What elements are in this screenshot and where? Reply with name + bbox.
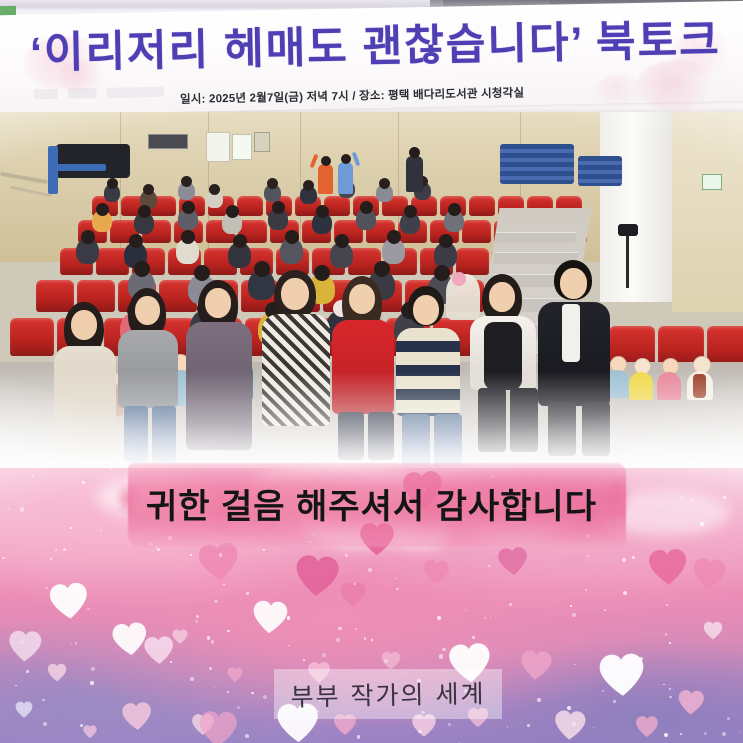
audience-member <box>96 203 109 216</box>
audience-member <box>181 176 192 187</box>
audience-member <box>360 201 373 214</box>
standing-attendee <box>338 162 353 194</box>
audience-member <box>285 230 299 244</box>
audience-member <box>233 234 247 248</box>
audience-member <box>181 230 195 244</box>
aisle-step <box>495 232 577 243</box>
audience-member <box>434 265 450 281</box>
tripod-leg <box>626 236 629 288</box>
wall-notice-green <box>232 134 252 160</box>
wall-notice-dark <box>148 134 188 149</box>
audience-member <box>335 234 349 248</box>
exit-sign-icon <box>702 174 722 190</box>
audience-member <box>316 205 329 218</box>
audience-member <box>387 230 401 244</box>
cart-frame <box>48 164 106 171</box>
wall-notice-white <box>206 132 230 162</box>
audience-member <box>303 180 314 191</box>
audience-member <box>374 261 390 277</box>
banner-title: ‘이리저리 헤매도 괜찮습니다’ 북토크 <box>29 9 720 84</box>
audience-member <box>81 230 95 244</box>
audience-member <box>314 265 330 281</box>
standing-attendee <box>321 156 331 166</box>
audience-member <box>448 203 461 216</box>
equipment-cart <box>56 144 130 178</box>
speaker-box-icon <box>254 132 270 152</box>
cartoon-cutout <box>686 356 714 400</box>
audience-member <box>226 205 239 218</box>
audience-member <box>379 178 390 189</box>
stacked-chairs <box>500 144 574 184</box>
audience-member <box>404 205 417 218</box>
audience-member <box>129 234 143 248</box>
bouquet-flower <box>452 272 466 286</box>
footer-signature: 부부 작가의 세계 <box>274 667 503 721</box>
audience-member <box>194 265 210 281</box>
standing-attendee <box>341 154 351 164</box>
standing-attendee <box>409 147 420 158</box>
audience-member <box>267 178 278 189</box>
audience-member <box>182 201 195 214</box>
cartoon-cutout <box>628 358 654 400</box>
audience-member <box>272 201 285 214</box>
standing-attendee <box>406 156 423 192</box>
photo-card: ‘이리저리 헤매도 괜찮습니다’ 북토크 일시: 2025년 2월7일(금) 저… <box>0 0 743 743</box>
audience-member <box>143 184 154 195</box>
audience-member <box>134 261 150 277</box>
audience-member <box>209 184 220 195</box>
audience-member <box>254 261 270 277</box>
stacked-chairs <box>578 156 622 186</box>
standing-attendee <box>318 164 333 194</box>
audience-member <box>107 178 118 189</box>
wall-pillar <box>600 112 672 302</box>
thank-you-caption: 귀한 걸음 해주셔서 감사합니다 <box>0 486 743 528</box>
audience-member <box>138 205 151 218</box>
right-wall <box>672 112 743 312</box>
event-photo <box>0 112 743 472</box>
audience-member <box>439 234 453 248</box>
event-banner: ‘이리저리 헤매도 괜찮습니다’ 북토크 일시: 2025년 2월7일(금) 저… <box>0 0 743 114</box>
camera-icon <box>618 224 638 236</box>
cartoon-cutout <box>656 358 682 400</box>
